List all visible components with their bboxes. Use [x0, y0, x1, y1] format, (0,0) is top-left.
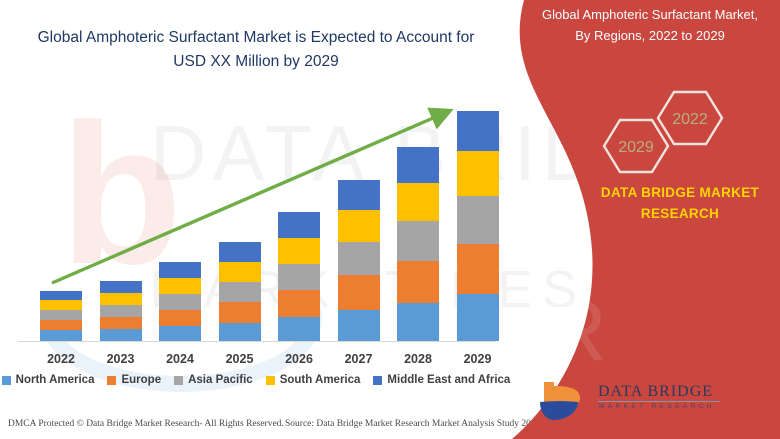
x-axis-label: 2024 [150, 352, 210, 366]
bar-segment [100, 305, 142, 317]
stacked-bar [338, 180, 380, 341]
legend-swatch-icon [174, 376, 183, 385]
bar-segment [100, 329, 142, 341]
legend-item[interactable]: Asia Pacific [174, 374, 253, 386]
legend-label: Asia Pacific [188, 374, 253, 386]
dbmr-logo-tagline: MARKET RESEARCH [599, 403, 715, 410]
legend-swatch-icon [107, 376, 116, 385]
bar-segment [457, 294, 499, 341]
bar-segment [457, 111, 499, 151]
bar-segment [397, 221, 439, 261]
bar-segment [219, 242, 261, 262]
brand-name-line-1: DATA BRIDGE MARKET [585, 182, 775, 203]
bar-segment [100, 317, 142, 329]
legend-swatch-icon [2, 376, 11, 385]
brand-name: DATA BRIDGE MARKET RESEARCH [585, 182, 775, 224]
legend-item[interactable]: South America [266, 374, 361, 386]
hexagon-2029-label: 2029 [618, 139, 654, 156]
x-axis-label: 2025 [210, 352, 270, 366]
svg-text:R: R [545, 283, 607, 379]
x-axis-line [18, 341, 496, 342]
bar-segment [397, 303, 439, 341]
footer-source: Source: Data Bridge Market Research Mark… [285, 419, 540, 429]
dbmr-logo-mark-icon [538, 378, 596, 424]
bar-segment [40, 310, 82, 320]
bar-segment [338, 275, 380, 310]
bar-segment [278, 317, 320, 341]
stacked-bar [397, 147, 439, 341]
bar-segment [100, 281, 142, 293]
brand-name-line-2: RESEARCH [585, 203, 775, 224]
bar-segment [159, 278, 201, 294]
bar-segment [457, 196, 499, 244]
stacked-bar [159, 262, 201, 341]
bar-segment [40, 300, 82, 310]
bar-segment [219, 262, 261, 282]
bar-segment [100, 293, 142, 305]
x-axis-label: 2028 [388, 352, 448, 366]
bar-segment [40, 291, 82, 300]
legend-label: Europe [121, 374, 161, 386]
panel-header-line-2: By Regions, 2022 to 2029 [520, 25, 780, 46]
bar-segment [397, 183, 439, 221]
stacked-bar [219, 242, 261, 341]
x-axis-label: 2023 [91, 352, 151, 366]
dbmr-logo: DATA BRIDGE MARKET RESEARCH [538, 378, 768, 428]
chart-legend: North AmericaEuropeAsia PacificSouth Ame… [0, 374, 512, 386]
bar-segment [159, 310, 201, 326]
bar-segment [159, 326, 201, 341]
legend-label: North America [16, 374, 95, 386]
hexagon-2029-icon [604, 120, 668, 172]
legend-swatch-icon [266, 376, 275, 385]
bar-segment [40, 330, 82, 341]
stacked-bar [457, 111, 499, 341]
legend-item[interactable]: Europe [107, 374, 161, 386]
stacked-bar [100, 281, 142, 341]
legend-item[interactable]: North America [2, 374, 95, 386]
legend-swatch-icon [373, 376, 382, 385]
infographic-root: b DATA BRIDGE MARKET RESEARCH Global Amp… [0, 0, 780, 439]
bar-segment [278, 212, 320, 238]
bar-segment [278, 238, 320, 264]
bar-segment [159, 294, 201, 310]
x-axis-label: 2026 [269, 352, 329, 366]
bar-segment [457, 151, 499, 196]
dbmr-logo-rule [598, 401, 720, 402]
x-axis-label: 2029 [448, 352, 508, 366]
bar-segment [338, 210, 380, 242]
stacked-bar [278, 212, 320, 341]
legend-label: Middle East and Africa [387, 374, 510, 386]
footer-copyright: DMCA Protected © Data Bridge Market Rese… [8, 419, 284, 429]
bar-segment [219, 302, 261, 323]
bar-segment [219, 323, 261, 341]
x-axis-label: 2027 [329, 352, 389, 366]
bar-segment [338, 180, 380, 210]
bar-segment [457, 244, 499, 294]
bar-segment [397, 261, 439, 303]
stacked-bar [40, 291, 82, 341]
panel-header-line-1: Global Amphoteric Surfactant Market, [520, 4, 780, 25]
footer-bar: DMCA Protected © Data Bridge Market Rese… [0, 416, 525, 439]
bar-segment [278, 290, 320, 317]
panel-header: Global Amphoteric Surfactant Market, By … [520, 4, 780, 46]
bar-segment [397, 147, 439, 183]
dbmr-logo-name: DATA BRIDGE [598, 383, 713, 401]
legend-item[interactable]: Middle East and Africa [373, 374, 510, 386]
bar-segment [338, 242, 380, 275]
hexagon-group: 2022 2029 [596, 88, 756, 188]
legend-label: South America [280, 374, 361, 386]
red-panel-watermark: R [545, 283, 607, 379]
bar-segment [159, 262, 201, 278]
hexagon-2022-label: 2022 [672, 111, 708, 128]
hexagon-2022-icon [658, 92, 722, 144]
bar-segment [278, 264, 320, 290]
bar-segment [40, 320, 82, 330]
bar-segment [338, 310, 380, 341]
bar-segment [219, 282, 261, 302]
x-axis-label: 2022 [31, 352, 91, 366]
